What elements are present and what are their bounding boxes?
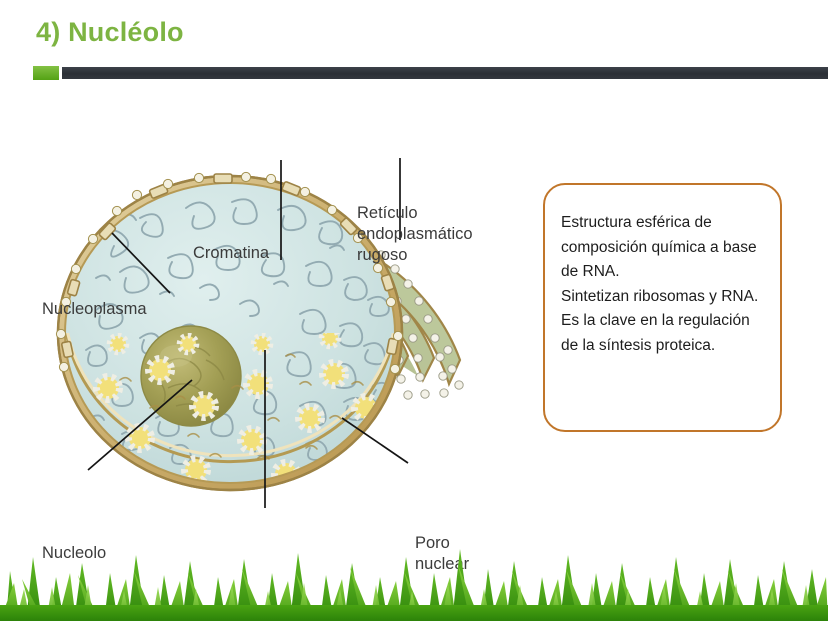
title-divider-accent: [33, 66, 59, 80]
diagram-label-nucleoplasma: Nucleoplasma: [42, 299, 147, 320]
cell-nucleus-diagram: Cromatina Retículo endoplasmático rugoso…: [0, 88, 540, 548]
title-divider: [0, 66, 828, 80]
diagram-label-reticulo-endoplasmatico-rugoso: Retículo endoplasmático rugoso: [357, 203, 473, 266]
title-divider-bar: [62, 67, 828, 79]
grass-footer-decoration: [0, 543, 828, 621]
page-title: 4) Nucléolo: [36, 17, 184, 48]
diagram-label-cromatina: Cromatina: [193, 243, 269, 264]
info-callout-box: Estructura esférica de composición quími…: [543, 183, 782, 432]
info-callout-text: Estructura esférica de composición quími…: [561, 211, 766, 359]
